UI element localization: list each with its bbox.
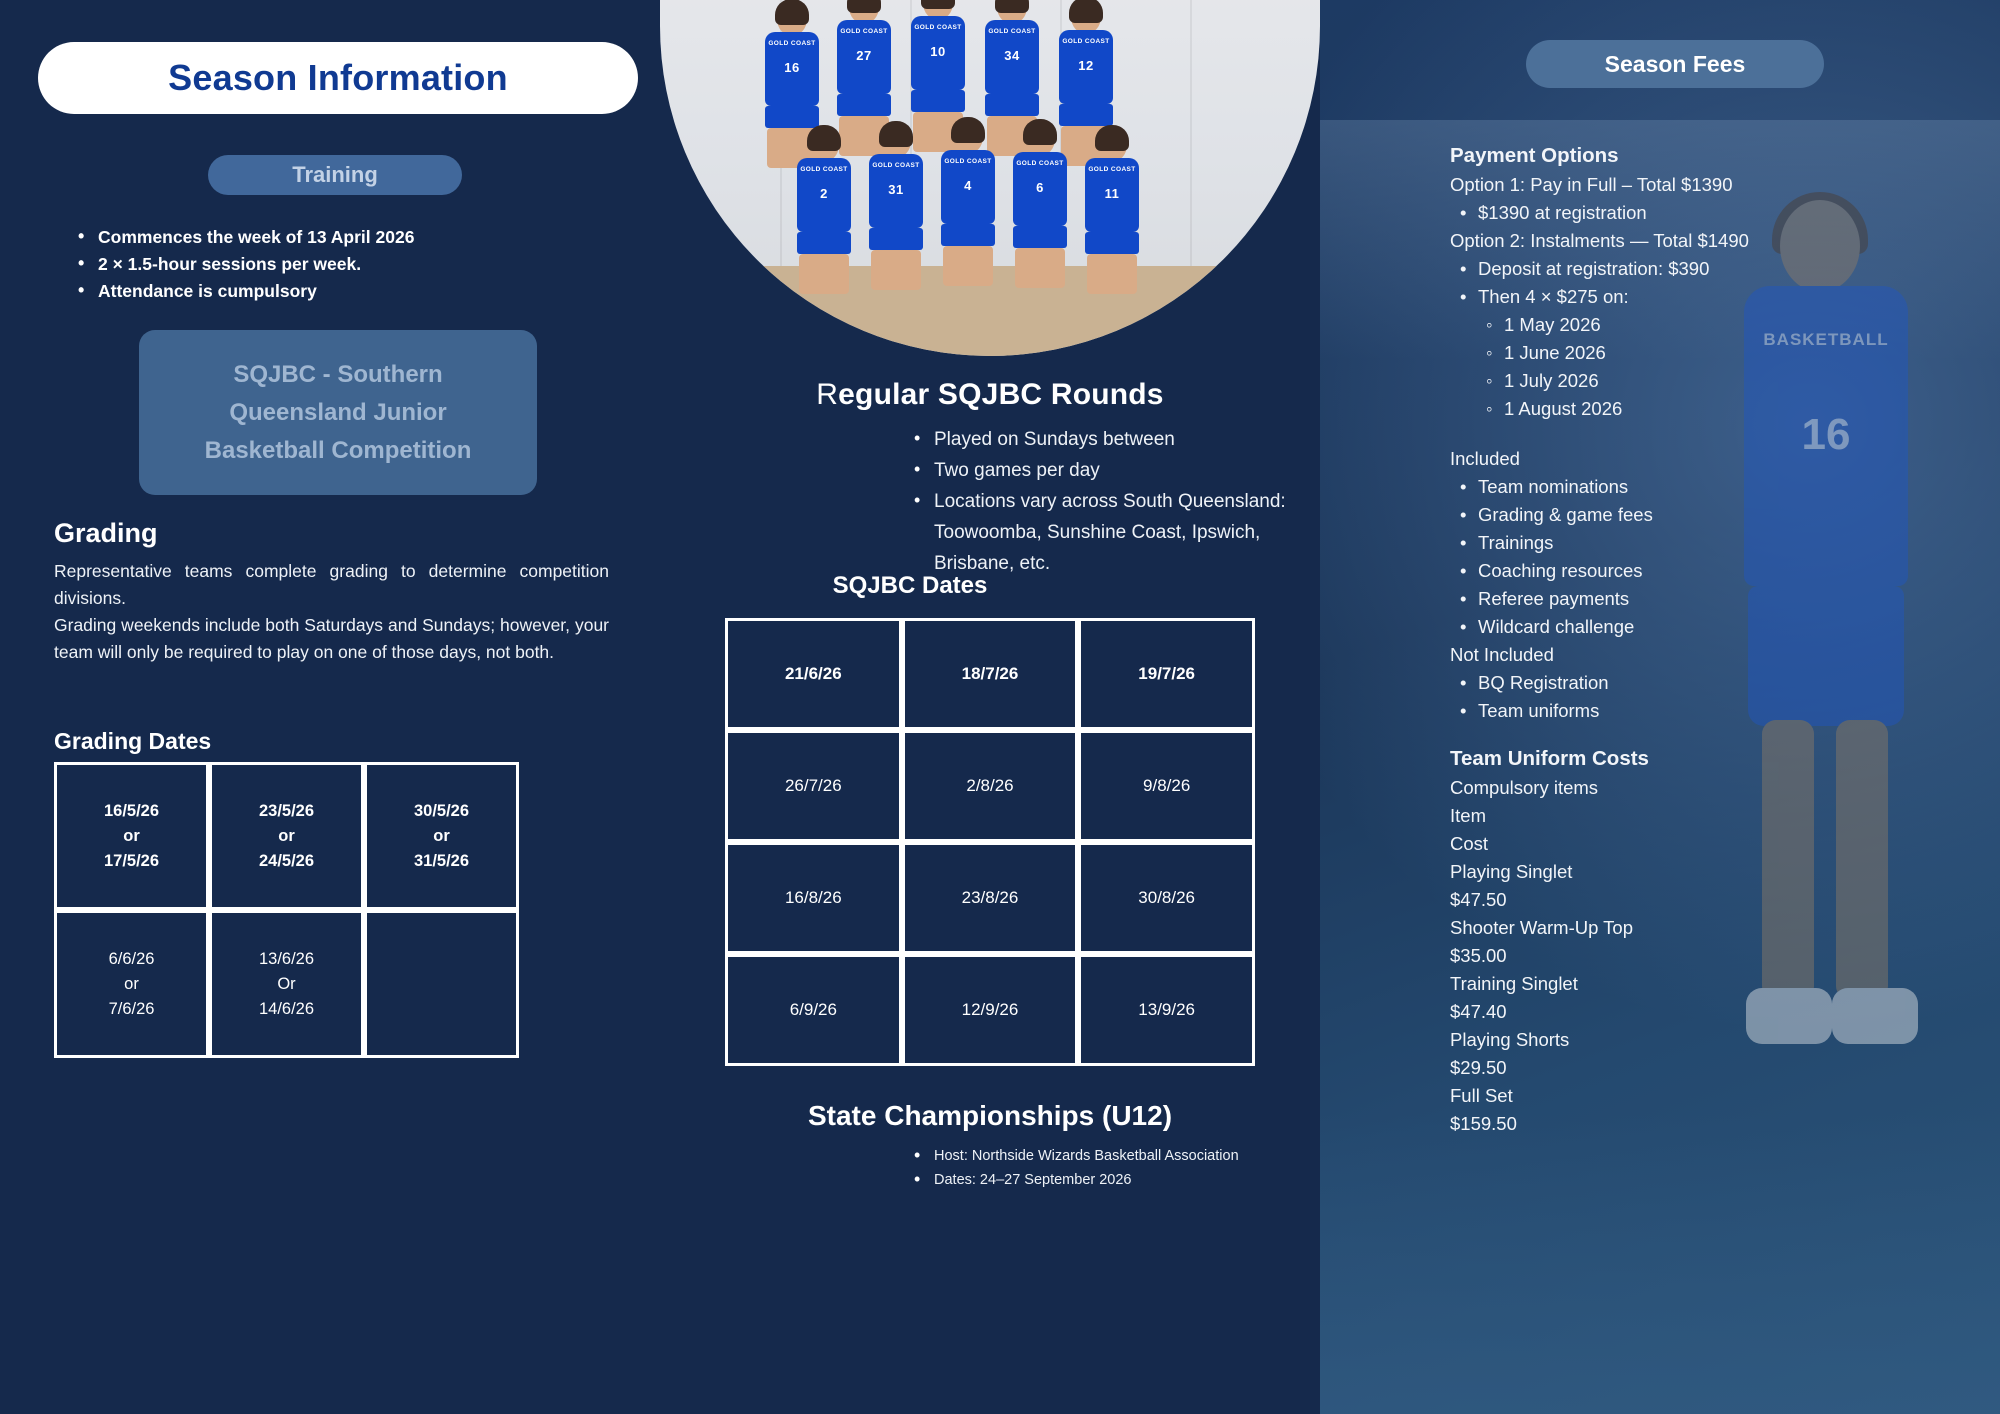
state-championships-heading: State Championships (U12) xyxy=(660,1100,1320,1132)
sqjbc-dates-heading: SQJBC Dates xyxy=(833,572,1148,599)
table-cell: 30/5/26or31/5/26 xyxy=(364,762,519,910)
list-item: $1390 at registration xyxy=(1450,199,1870,227)
rounds-list-wrap: Played on Sundays between Two games per … xyxy=(908,424,1338,579)
uniform-line: Shooter Warm-Up Top xyxy=(1450,914,1870,942)
training-badge-label: Training xyxy=(292,162,378,188)
list-item: 1 May 2026 xyxy=(1476,311,1870,339)
sqjbc-dates-heading-wrap: SQJBC Dates xyxy=(660,572,1320,600)
uniform-line: $47.50 xyxy=(1450,886,1870,914)
list-item: BQ Registration xyxy=(1450,669,1870,697)
list-item: 1 August 2026 xyxy=(1476,395,1870,423)
uniform-costs-heading: Team Uniform Costs xyxy=(1450,747,1870,771)
grading-heading: Grading xyxy=(54,518,158,549)
season-fees-label: Season Fees xyxy=(1605,51,1746,78)
uniform-line: Compulsory items xyxy=(1450,774,1870,802)
grading-dates-table: 16/5/26or17/5/26 23/5/26or24/5/26 30/5/2… xyxy=(54,762,519,1058)
uniform-costs-lines: Compulsory items Item Cost Playing Singl… xyxy=(1450,774,1870,1138)
payment-options-heading: Payment Options xyxy=(1450,144,1870,168)
list-item: Team nominations xyxy=(1450,473,1870,501)
right-column: BASKETBALL 16 Season Fees Payment Option… xyxy=(1320,0,2000,1414)
page-title: Season Information xyxy=(168,57,508,99)
rounds-list: Played on Sundays between Two games per … xyxy=(908,424,1338,517)
grading-paragraph-2: Grading weekends include both Saturdays … xyxy=(54,615,609,662)
list-item: Two games per day xyxy=(908,455,1338,486)
list-item: 1 July 2026 xyxy=(1476,367,1870,395)
payment-option-2: Option 2: Instalments — Total $1490 xyxy=(1450,227,1870,255)
page-title-pill: Season Information xyxy=(38,42,638,114)
middle-column: GOLD COAST16 GOLD COAST27 GOLD COAST10 G… xyxy=(660,0,1320,1414)
list-item: Host: Northside Wizards Basketball Assoc… xyxy=(908,1144,1328,1168)
team-photo: GOLD COAST16 GOLD COAST27 GOLD COAST10 G… xyxy=(660,0,1320,356)
table-cell xyxy=(364,910,519,1058)
uniform-line: Playing Shorts xyxy=(1450,1026,1870,1054)
sqjbc-line: Basketball Competition xyxy=(205,432,472,470)
table-cell: 23/8/26 xyxy=(902,842,1079,954)
rounds-continuation: Toowoomba, Sunshine Coast, Ipswich, Bris… xyxy=(908,517,1338,579)
list-item: Locations vary across South Queensland: xyxy=(908,486,1338,517)
list-item: Trainings xyxy=(1450,529,1870,557)
uniform-line: $35.00 xyxy=(1450,942,1870,970)
list-item: 2 × 1.5-hour sessions per week. xyxy=(72,251,592,278)
table-cell: 13/9/26 xyxy=(1078,954,1255,1066)
list-item: Grading & game fees xyxy=(1450,501,1870,529)
table-cell: 23/5/26or24/5/26 xyxy=(209,762,364,910)
left-column: Season Information Training Commences th… xyxy=(0,0,660,1414)
list-item: Deposit at registration: $390 xyxy=(1450,255,1870,283)
grading-paragraph: Representative teams complete grading to… xyxy=(54,558,609,666)
list-item: Dates: 24–27 September 2026 xyxy=(908,1168,1328,1192)
uniform-line: $47.40 xyxy=(1450,998,1870,1026)
instalment-dates-list: 1 May 2026 1 June 2026 1 July 2026 1 Aug… xyxy=(1476,311,1870,423)
list-item: Referee payments xyxy=(1450,585,1870,613)
not-included-list: BQ Registration Team uniforms xyxy=(1450,669,1870,725)
list-item: Coaching resources xyxy=(1450,557,1870,585)
payment-option-1: Option 1: Pay in Full – Total $1390 xyxy=(1450,171,1870,199)
list-item: Played on Sundays between xyxy=(908,424,1338,455)
table-cell: 12/9/26 xyxy=(902,954,1079,1066)
sqjbc-definition-box: SQJBC - Southern Queensland Junior Baske… xyxy=(139,330,537,495)
list-item: 1 June 2026 xyxy=(1476,339,1870,367)
uniform-line: Training Singlet xyxy=(1450,970,1870,998)
rounds-heading: Regular SQJBC Rounds xyxy=(660,378,1320,412)
table-cell: 6/6/26or7/6/26 xyxy=(54,910,209,1058)
uniform-line: Cost xyxy=(1450,830,1870,858)
table-cell: 2/8/26 xyxy=(902,730,1079,842)
list-item: Then 4 × $275 on: xyxy=(1450,283,1870,311)
list-item: Commences the week of 13 April 2026 xyxy=(72,224,592,251)
uniform-line: Playing Singlet xyxy=(1450,858,1870,886)
state-championships-list: Host: Northside Wizards Basketball Assoc… xyxy=(908,1144,1328,1192)
option1-list: $1390 at registration xyxy=(1450,199,1870,227)
uniform-line: $29.50 xyxy=(1450,1054,1870,1082)
poster-root: Season Information Training Commences th… xyxy=(0,0,2000,1414)
table-cell: 26/7/26 xyxy=(725,730,902,842)
table-cell: 30/8/26 xyxy=(1078,842,1255,954)
list-item: Attendance is cumpulsory xyxy=(72,278,592,305)
list-item: Team uniforms xyxy=(1450,697,1870,725)
option2-list: Deposit at registration: $390 Then 4 × $… xyxy=(1450,255,1870,311)
uniform-line: $159.50 xyxy=(1450,1110,1870,1138)
table-cell: 16/8/26 xyxy=(725,842,902,954)
rounds-heading-lead: R xyxy=(816,378,838,411)
season-fees-badge: Season Fees xyxy=(1526,40,1824,88)
sqjbc-line: SQJBC - Southern xyxy=(233,356,442,394)
table-cell: 19/7/26 xyxy=(1078,618,1255,730)
training-list: Commences the week of 13 April 2026 2 × … xyxy=(72,224,592,305)
sqjbc-line: Queensland Junior xyxy=(229,394,446,432)
list-item: Wildcard challenge xyxy=(1450,613,1870,641)
training-badge: Training xyxy=(208,155,462,195)
table-cell: 21/6/26 xyxy=(725,618,902,730)
sqjbc-dates-table: 21/6/26 18/7/26 19/7/26 26/7/26 2/8/26 9… xyxy=(725,618,1255,1066)
uniform-line: Full Set xyxy=(1450,1082,1870,1110)
table-cell: 6/9/26 xyxy=(725,954,902,1066)
uniform-line: Item xyxy=(1450,802,1870,830)
table-cell: 13/6/26Or14/6/26 xyxy=(209,910,364,1058)
not-included-heading: Not Included xyxy=(1450,641,1870,669)
rounds-heading-rest: egular SQJBC Rounds xyxy=(838,378,1164,411)
table-cell: 16/5/26or17/5/26 xyxy=(54,762,209,910)
included-list: Team nominations Grading & game fees Tra… xyxy=(1450,473,1870,641)
table-cell: 18/7/26 xyxy=(902,618,1079,730)
fees-content: Payment Options Option 1: Pay in Full – … xyxy=(1450,144,1870,1138)
table-cell: 9/8/26 xyxy=(1078,730,1255,842)
included-heading: Included xyxy=(1450,445,1870,473)
grading-dates-heading: Grading Dates xyxy=(54,728,211,755)
grading-paragraph-1: Representative teams complete grading to… xyxy=(54,561,609,608)
